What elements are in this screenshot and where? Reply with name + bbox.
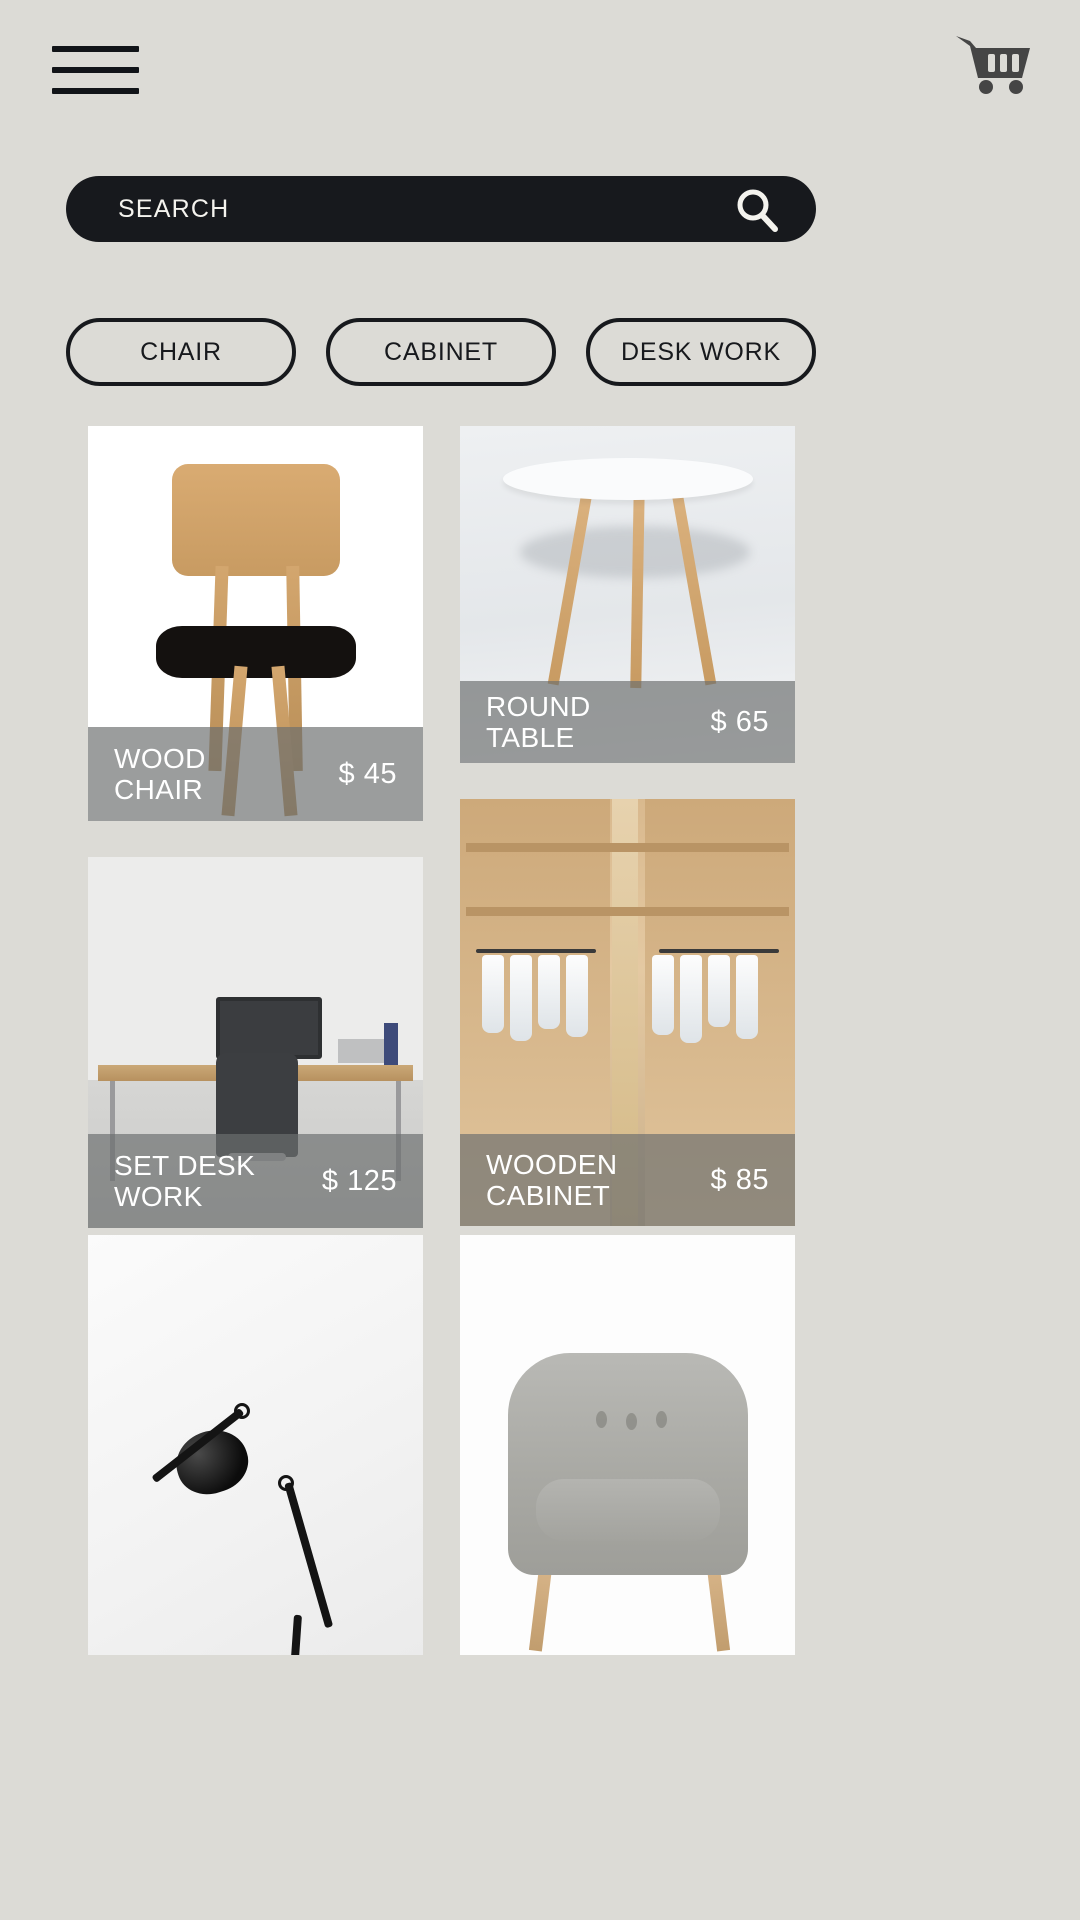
hamburger-line [52, 88, 139, 94]
product-grid: WOOD CHAIR $ 45 ROUND TABLE $ 65 [0, 426, 1080, 1920]
product-price: $ 125 [322, 1165, 397, 1198]
search-input[interactable]: SEARCH [66, 176, 816, 242]
product-card-set-desk-work[interactable]: SET DESK WORK $ 125 [88, 857, 423, 1228]
category-filter-row: CHAIR CABINET DESK WORK [66, 318, 816, 386]
product-card-desk-lamp[interactable] [88, 1235, 423, 1655]
product-name: ROUND TABLE [486, 691, 591, 754]
product-label-band: WOODEN CABINET $ 85 [460, 1134, 795, 1226]
grey-armchair-photo [460, 1235, 795, 1655]
category-label: CHAIR [140, 338, 222, 367]
app-header [0, 0, 1080, 150]
hamburger-line [52, 67, 139, 73]
category-pill-cabinet[interactable]: CABINET [326, 318, 556, 386]
product-card-wooden-cabinet[interactable]: WOODEN CABINET $ 85 [460, 799, 795, 1226]
product-card-grey-armchair[interactable] [460, 1235, 795, 1655]
desk-lamp-photo [88, 1235, 423, 1655]
category-pill-desk-work[interactable]: DESK WORK [586, 318, 816, 386]
product-label-band: SET DESK WORK $ 125 [88, 1134, 423, 1228]
product-price: $ 45 [339, 758, 397, 791]
product-price: $ 65 [711, 706, 769, 739]
product-label-band: WOOD CHAIR $ 45 [88, 727, 423, 821]
app-screen: SEARCH CHAIR CABINET DESK WORK [0, 0, 1080, 1920]
hamburger-menu-icon[interactable] [52, 46, 139, 94]
category-label: CABINET [384, 338, 498, 367]
product-label-band: ROUND TABLE $ 65 [460, 681, 795, 763]
hamburger-line [52, 46, 139, 52]
product-card-wood-chair[interactable]: WOOD CHAIR $ 45 [88, 426, 423, 821]
product-price: $ 85 [711, 1164, 769, 1197]
category-pill-chair[interactable]: CHAIR [66, 318, 296, 386]
product-name: SET DESK WORK [114, 1150, 255, 1213]
product-name: WOODEN CABINET [486, 1149, 618, 1212]
magnifier-search-icon[interactable] [734, 186, 780, 232]
search-placeholder-text: SEARCH [118, 195, 229, 224]
product-name: WOOD CHAIR [114, 743, 206, 806]
category-label: DESK WORK [621, 338, 781, 367]
product-card-round-table[interactable]: ROUND TABLE $ 65 [460, 426, 795, 763]
shopping-cart-icon[interactable] [954, 32, 1038, 94]
